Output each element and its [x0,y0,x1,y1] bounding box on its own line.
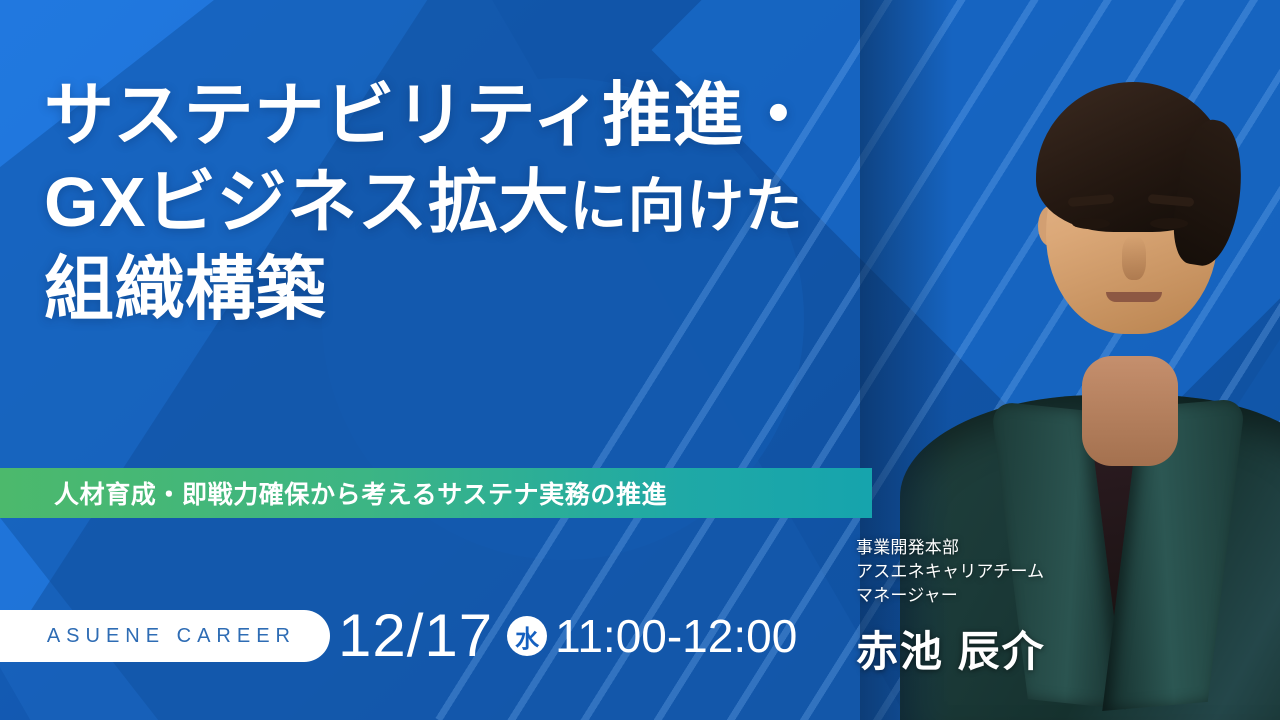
title-line-3: 組織構築 [44,246,1024,333]
title-line-2-sub: に向けた [569,174,803,239]
photo-mouth [1106,292,1162,302]
day-of-week-badge: 水 [507,616,547,656]
photo-eye-left [1072,218,1110,229]
title-line-1: サステナビリティ推進・ [44,72,1024,159]
subtitle-band: 人材育成・即戦力確保から考えるサステナ実務の推進 [0,468,872,518]
photo-neck [1082,356,1178,466]
logo-text: ASUENE CAREER [47,625,296,648]
photo-eye-right [1150,218,1188,229]
schedule-block: 12/17 水 11:00-12:00 [338,600,797,672]
speaker-info: 事業開発本部 アスエネキャリアチーム マネージャー 赤池 辰介 [856,536,1046,679]
subtitle-text: 人材育成・即戦力確保から考えるサステナ実務の推進 [54,475,667,511]
speaker-name: 赤池 辰介 [856,618,1046,679]
event-time: 11:00-12:00 [555,613,797,659]
page-title: サステナビリティ推進・ GXビジネス拡大に向けた 組織構築 [44,72,1024,332]
photo-nose [1122,236,1146,280]
webinar-banner: サステナビリティ推進・ GXビジネス拡大に向けた 組織構築 人材育成・即戦力確保… [0,0,1280,720]
speaker-role-line-1: 事業開発本部 [856,536,1046,560]
speaker-role-line-3: マネージャー [856,584,1046,608]
asuene-career-logo: ASUENE CAREER [0,610,330,662]
speaker-role-line-2: アスエネキャリアチーム [856,560,1046,584]
title-line-2: GXビジネス拡大に向けた [44,159,1024,246]
event-date: 12/17 [338,606,493,666]
title-line-2-main: GXビジネス拡大 [44,163,569,241]
